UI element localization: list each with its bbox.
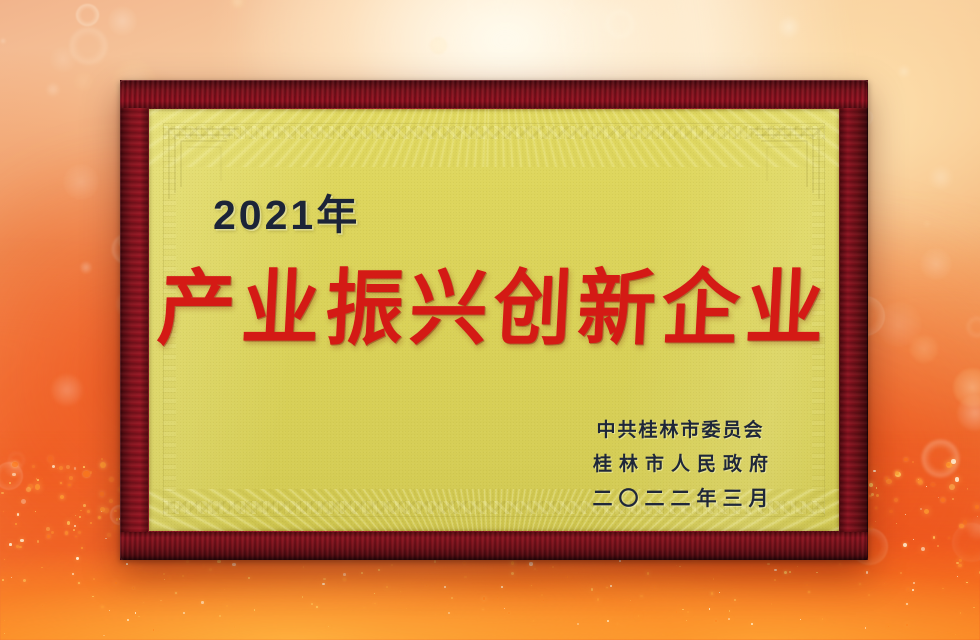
glitter-speck: [875, 507, 876, 508]
glitter-speck: [734, 599, 735, 600]
glitter-speck: [163, 573, 164, 574]
glitter-speck: [767, 563, 769, 565]
glitter-speck: [543, 600, 544, 601]
glitter-speck: [378, 569, 380, 571]
glitter-speck: [361, 572, 363, 574]
glitter-speck: [709, 608, 711, 610]
glitter-speck: [126, 563, 128, 565]
glitter-speck: [869, 483, 873, 487]
glitter-speck: [4, 633, 5, 634]
glitter-speck: [822, 618, 823, 619]
glitter-speck: [12, 473, 16, 477]
glitter-speck: [113, 525, 118, 530]
glitter-speck: [87, 510, 90, 513]
glitter-speck: [32, 465, 35, 468]
glitter-speck: [248, 577, 250, 579]
glitter-speck: [69, 476, 73, 480]
glitter-speck: [11, 577, 12, 578]
glitter-speck: [107, 533, 111, 537]
glitter-speck: [186, 560, 189, 563]
glitter-speck: [955, 477, 959, 481]
glitter-speck: [80, 510, 82, 512]
glitter-speck: [2, 579, 4, 581]
glitter-speck: [47, 535, 50, 538]
glitter-speck: [464, 576, 466, 578]
glitter-speck: [52, 465, 55, 468]
glitter-speck: [895, 471, 899, 475]
glitter-speck: [93, 578, 95, 580]
glitter-speck: [751, 623, 753, 625]
glitter-speck: [37, 540, 40, 543]
glitter-speck: [135, 612, 137, 614]
issuer-date: 二〇二二年三月: [586, 489, 775, 509]
glitter-speck: [607, 620, 609, 622]
glitter-speck: [42, 605, 43, 606]
glitter-speck: [51, 531, 54, 534]
glitter-speck: [942, 588, 943, 589]
glitter-speck: [591, 588, 594, 591]
glitter-speck: [118, 473, 119, 474]
glitter-speck: [76, 557, 78, 559]
glitter-speck: [444, 586, 446, 588]
glitter-speck: [448, 612, 450, 614]
glitter-speck: [859, 583, 861, 585]
glitter-speck: [686, 620, 687, 621]
glitter-speck: [323, 578, 326, 581]
glitter-speck: [217, 560, 220, 563]
glitter-speck: [133, 587, 134, 588]
glitter-speck: [876, 494, 879, 497]
glitter-speck: [83, 504, 86, 507]
glitter-speck: [937, 545, 939, 547]
glitter-speck: [719, 592, 720, 593]
glitter-speck: [912, 461, 914, 463]
glitter-speck: [109, 610, 110, 611]
glitter-speck: [1, 492, 4, 495]
glitter-speck: [951, 459, 955, 463]
glitter-speck: [533, 620, 535, 622]
glitter-speck: [967, 489, 969, 491]
glitter-speck: [789, 571, 791, 573]
glitter-speck: [913, 582, 915, 584]
glitter-speck: [101, 458, 104, 461]
glitter-speck: [715, 620, 716, 621]
glitter-speck: [374, 593, 375, 594]
glitter-speck: [501, 586, 503, 588]
glitter-speck: [74, 467, 76, 469]
glitter-speck: [900, 572, 902, 574]
glitter-speck: [435, 614, 436, 615]
glitter-speck: [808, 591, 810, 593]
glitter-speck: [78, 531, 81, 534]
glitter-speck: [406, 608, 408, 610]
glitter-speck: [679, 566, 680, 567]
glitter-speck: [963, 520, 968, 525]
glitter-speck: [913, 539, 914, 540]
glitter-speck: [116, 518, 118, 520]
glitter-speck: [650, 587, 652, 589]
glitter-speck: [343, 573, 346, 576]
glitter-speck: [104, 508, 109, 513]
glitter-speck: [164, 579, 165, 580]
glitter-speck: [226, 605, 228, 607]
glitter-speck: [534, 568, 536, 570]
glitter-speck: [4, 559, 5, 560]
glitter-speck: [46, 527, 50, 531]
issuer-line-party-committee: 中共桂林市委员会: [586, 421, 775, 440]
glitter-speck: [977, 516, 978, 517]
issuer-signature-block: 中共桂林市委员会 桂林市人民政府 二〇二二年三月: [586, 421, 775, 509]
glitter-speck: [711, 592, 714, 595]
glitter-speck: [949, 484, 955, 490]
plaque-gold-panel: 2021年 产业振兴创新企业 中共桂林市委员会 桂林市人民政府 二〇二二年三月: [149, 109, 839, 531]
glitter-speck: [774, 569, 777, 572]
glitter-speck: [912, 589, 914, 591]
glitter-speck: [234, 626, 236, 628]
glitter-speck: [774, 579, 776, 581]
glitter-speck: [219, 615, 221, 617]
glitter-speck: [23, 579, 26, 582]
glitter-speck: [109, 477, 115, 483]
glitter-speck: [81, 547, 83, 549]
glitter-speck: [153, 629, 154, 630]
glitter-speck: [169, 577, 170, 578]
glitter-speck: [483, 597, 486, 600]
glitter-speck: [21, 499, 26, 504]
glitter-speck: [105, 538, 107, 540]
glitter-speck: [682, 609, 683, 610]
glitter-speck: [75, 536, 76, 537]
glitter-speck: [391, 564, 393, 566]
glitter-speck: [139, 568, 141, 570]
glitter-speck: [26, 487, 31, 492]
glitter-speck: [504, 608, 505, 609]
glitter-speck: [322, 583, 324, 585]
glitter-speck: [617, 623, 618, 624]
glitter-speck: [115, 582, 117, 584]
glitter-speck: [610, 585, 612, 587]
glitter-speck: [868, 594, 870, 596]
glitter-speck: [254, 609, 255, 610]
glitter-speck: [65, 531, 69, 535]
glitter-speck: [363, 607, 365, 609]
glitter-speck: [83, 471, 89, 477]
glitter-speck: [597, 598, 599, 600]
glitter-speck: [903, 543, 907, 547]
glitter-speck: [67, 521, 71, 525]
glitter-speck: [640, 595, 642, 597]
glitter-speck: [904, 458, 907, 461]
glitter-speck: [15, 523, 17, 525]
glitter-speck: [921, 547, 925, 551]
glitter-speck: [316, 606, 318, 608]
glitter-speck: [567, 576, 568, 577]
glitter-speck: [875, 521, 876, 522]
glitter-speck: [896, 523, 897, 524]
glitter-speck: [19, 546, 21, 548]
glitter-speck: [160, 600, 161, 601]
glitter-speck: [138, 616, 139, 617]
glitter-speck: [771, 603, 773, 605]
glitter-speck: [374, 603, 375, 604]
glitter-speck: [676, 565, 677, 566]
glitter-speck: [958, 564, 961, 567]
glitter-speck: [876, 487, 878, 489]
glitter-speck: [884, 583, 885, 584]
glitter-speck: [100, 492, 103, 495]
glitter-speck: [866, 571, 868, 573]
glitter-speck: [933, 536, 935, 538]
glitter-speck: [926, 486, 927, 487]
glitter-speck: [92, 596, 94, 598]
glitter-speck: [948, 537, 950, 539]
plaque-content: 2021年 产业振兴创新企业 中共桂林市委员会 桂林市人民政府 二〇二二年三月: [149, 109, 839, 531]
glitter-speck: [511, 561, 514, 564]
glitter-speck: [873, 470, 875, 472]
glitter-speck: [957, 576, 958, 577]
glitter-speck: [60, 495, 64, 499]
glitter-speck: [302, 596, 303, 597]
glitter-speck: [434, 560, 436, 562]
award-plaque: 2021年 产业振兴创新企业 中共桂林市委员会 桂林市人民政府 二〇二二年三月: [120, 80, 868, 560]
glitter-speck: [865, 627, 866, 628]
glitter-speck: [687, 611, 689, 613]
award-plaque-scene: 2021年 产业振兴创新企业 中共桂林市委员会 桂林市人民政府 二〇二二年三月: [0, 0, 980, 640]
glitter-speck: [343, 578, 346, 581]
glitter-speck: [952, 498, 954, 500]
glitter-speck: [973, 607, 975, 609]
glitter-speck: [888, 626, 889, 627]
glitter-speck: [90, 522, 92, 524]
glitter-speck: [906, 624, 908, 626]
glitter-speck: [75, 515, 76, 516]
glitter-speck: [386, 586, 388, 588]
glitter-speck: [224, 589, 225, 590]
glitter-speck: [931, 483, 935, 487]
glitter-speck: [907, 588, 909, 590]
glitter-speck: [17, 513, 19, 515]
glitter-speck: [676, 611, 678, 613]
glitter-speck: [508, 612, 510, 614]
glitter-speck: [73, 529, 75, 531]
glitter-speck: [9, 543, 12, 546]
glitter-speck: [59, 466, 64, 471]
glitter-speck: [68, 484, 70, 486]
glitter-speck: [426, 585, 427, 586]
glitter-speck: [476, 635, 477, 636]
glitter-speck: [529, 562, 532, 565]
glitter-speck: [924, 509, 929, 514]
glitter-speck: [201, 601, 203, 603]
glitter-speck: [60, 482, 62, 484]
glitter-speck: [800, 619, 801, 620]
glitter-speck: [72, 573, 74, 575]
glitter-speck: [66, 465, 71, 470]
glitter-speck: [175, 592, 177, 594]
glitter-speck: [906, 603, 908, 605]
glitter-speck: [531, 585, 532, 586]
glitter-speck: [938, 497, 939, 498]
glitter-speck: [729, 610, 730, 611]
glitter-speck: [941, 498, 945, 502]
glitter-speck: [79, 516, 82, 519]
glitter-speck: [463, 562, 466, 565]
glitter-speck: [48, 456, 53, 461]
award-title: 产业振兴创新企业: [149, 243, 839, 362]
glitter-speck: [451, 597, 453, 599]
glitter-speck: [894, 498, 899, 503]
glitter-speck: [203, 564, 205, 566]
glitter-speck: [109, 499, 113, 503]
glitter-speck: [955, 634, 956, 635]
glitter-speck: [869, 526, 873, 530]
issuer-line-municipal-government: 桂林市人民政府: [586, 455, 775, 474]
glitter-speck: [905, 514, 906, 515]
glitter-speck: [9, 482, 11, 484]
glitter-speck: [90, 471, 93, 474]
glitter-speck: [311, 603, 313, 605]
glitter-speck: [511, 572, 514, 575]
glitter-speck: [328, 626, 329, 627]
glitter-speck: [889, 510, 892, 513]
glitter-speck: [960, 612, 962, 614]
award-year: 2021年: [213, 181, 360, 241]
glitter-speck: [797, 566, 798, 567]
glitter-speck: [20, 539, 23, 542]
glitter-speck: [871, 493, 874, 496]
glitter-speck: [100, 462, 106, 468]
glitter-speck: [41, 567, 42, 568]
glitter-speck: [83, 466, 85, 468]
glitter-speck: [713, 578, 714, 579]
glitter-speck: [37, 479, 39, 481]
glitter-speck: [101, 606, 103, 608]
glitter-speck: [806, 584, 808, 586]
glitter-speck: [728, 618, 730, 620]
glitter-speck: [552, 566, 554, 568]
glitter-speck: [114, 510, 117, 513]
glitter-speck: [103, 635, 104, 636]
glitter-speck: [630, 600, 631, 601]
glitter-speck: [497, 597, 498, 598]
glitter-speck: [232, 563, 235, 566]
glitter-speck: [918, 479, 919, 480]
glitter-speck: [966, 582, 968, 584]
glitter-speck: [35, 484, 40, 489]
glitter-speck: [74, 525, 76, 527]
glitter-speck: [4, 620, 5, 621]
glitter-speck: [303, 566, 304, 567]
glitter-speck: [127, 619, 129, 621]
glitter-speck: [920, 508, 922, 510]
glitter-speck: [577, 623, 578, 624]
glitter-speck: [647, 572, 649, 574]
glitter-speck: [12, 462, 18, 468]
glitter-speck: [784, 571, 787, 574]
glitter-speck: [839, 563, 840, 564]
glitter-speck: [482, 609, 484, 611]
glitter-speck: [541, 594, 543, 596]
glitter-speck: [619, 560, 621, 562]
glitter-speck: [182, 575, 185, 578]
glitter-speck: [638, 615, 639, 616]
glitter-speck: [143, 602, 144, 603]
glitter-speck: [78, 582, 80, 584]
glitter-speck: [35, 511, 36, 512]
glitter-speck: [3, 511, 4, 512]
glitter-speck: [42, 478, 44, 480]
glitter-speck: [98, 516, 101, 519]
glitter-speck: [975, 505, 979, 509]
glitter-speck: [183, 612, 185, 614]
glitter-speck: [654, 586, 655, 587]
glitter-speck: [816, 572, 817, 573]
glitter-speck: [606, 587, 608, 589]
glitter-speck: [400, 591, 401, 592]
glitter-speck: [209, 568, 212, 571]
